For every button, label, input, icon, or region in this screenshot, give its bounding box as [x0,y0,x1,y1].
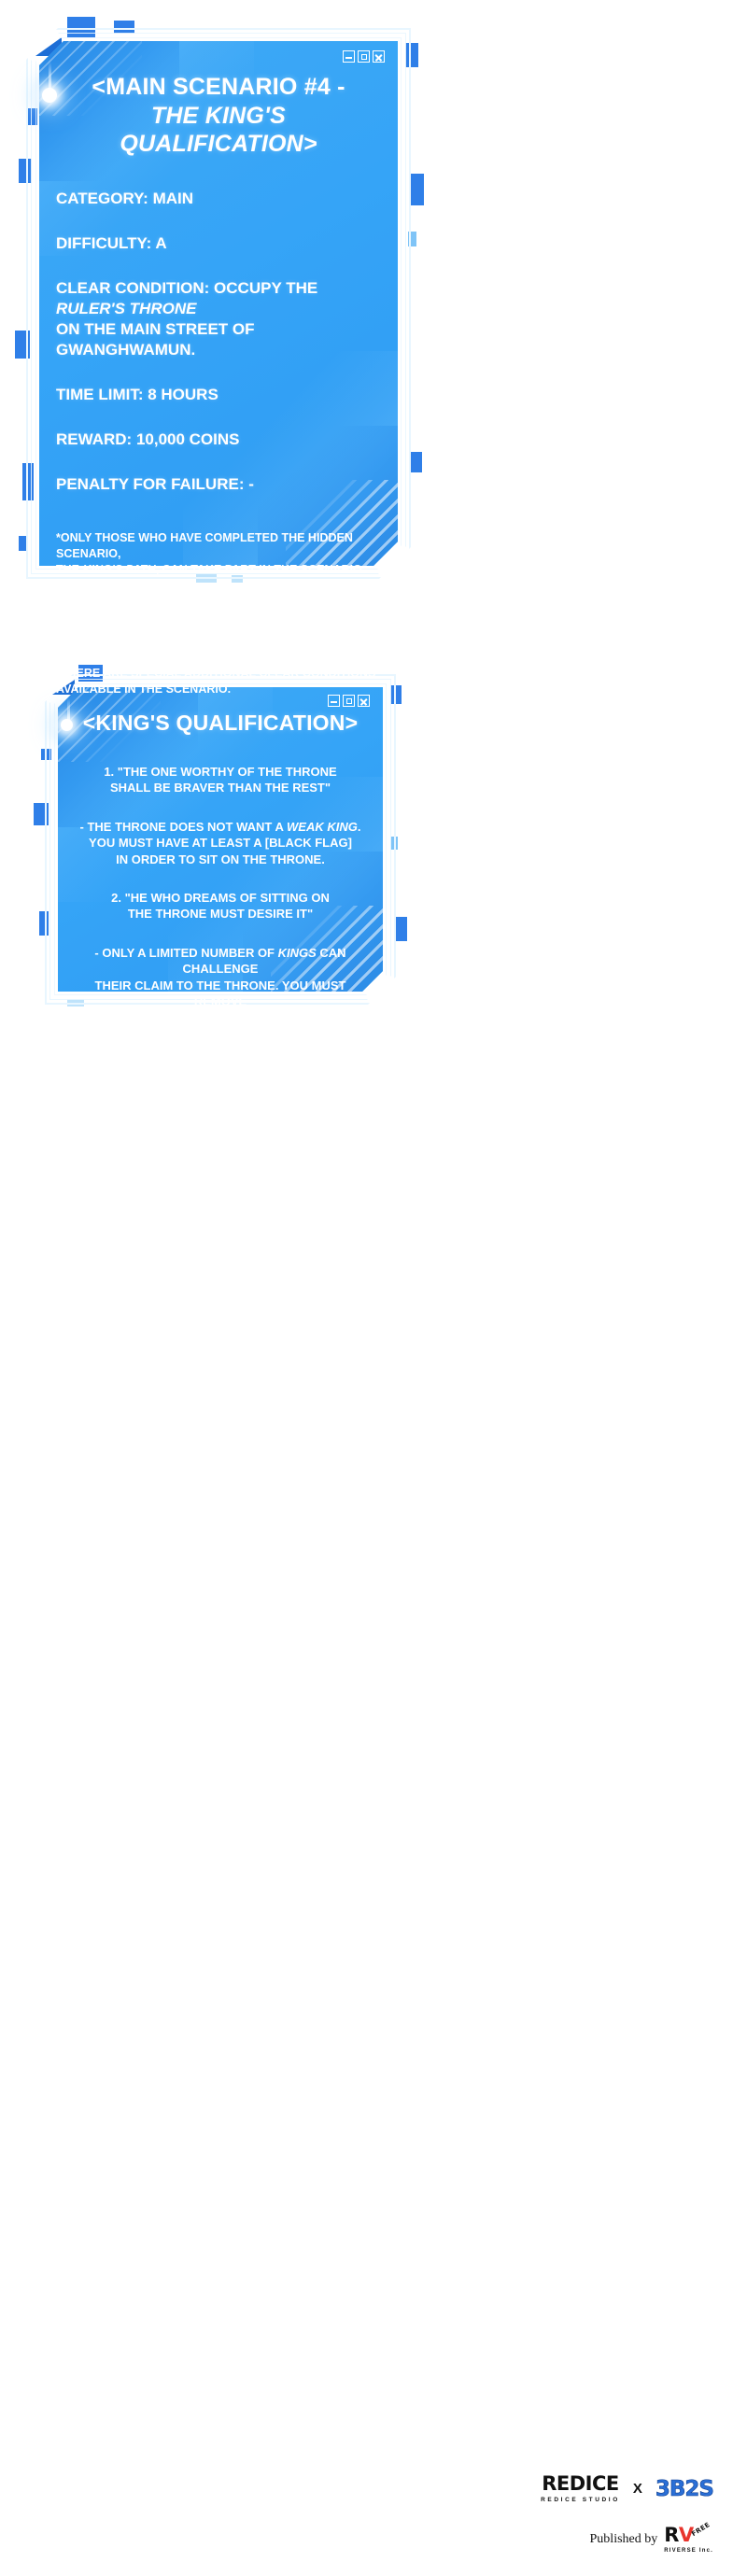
page-root: <MAIN SCENARIO #4 - THE KING'S QUALIFICA… [0,0,747,2576]
deco-block [408,232,416,246]
clear-condition-emphasis: RULER'S THRONE [56,300,196,317]
stat-category-text: CATEGORY: MAIN [56,190,193,207]
rule-1-line-1: YOU MUST HAVE AT LEAST A [BLACK FLAG] [89,836,352,850]
deco-block [390,685,402,704]
title-line-2: THE KING'S QUALIFICATION> [56,102,381,159]
stat-penalty-text: PENALTY FOR FAILURE: - [56,475,254,493]
minimize-icon[interactable] [343,50,355,63]
window-content: <MAIN SCENARIO #4 - THE KING'S QUALIFICA… [56,65,381,697]
page-title: <MAIN SCENARIO #4 - THE KING'S QUALIFICA… [56,73,381,159]
redice-tagline: REDICE STUDIO [541,2497,620,2503]
deco-block [19,159,32,183]
stat-time-limit: TIME LIMIT: 8 HOURS [56,385,381,405]
title-text: <KING'S QUALIFICATION> [83,711,358,735]
note-1-line1-pre: *THE KING WHO OCCUPIES THE [56,599,242,612]
stat-time-limit-text: TIME LIMIT: 8 HOURS [56,386,218,403]
maximize-icon[interactable] [343,695,355,707]
stat-difficulty-text: DIFFICULTY: A [56,234,167,252]
rule-3-line-2-emphasis: KINGS [158,1011,196,1025]
note-0-line1: *ONLY THOSE WHO HAVE COMPLETED THE HIDDE… [56,531,353,560]
deco-block [19,536,28,551]
page-title: <KING'S QUALIFICATION> [71,710,370,736]
published-by-label: Published by [590,2532,658,2547]
riverse-company-name: RIVERSE Inc. [664,2548,713,2554]
rule-2-line-0: 2. "HE WHO DREAMS OF SITTING ON [111,891,330,905]
note-item: *ONLY THOSE WHO HAVE COMPLETED THE HIDDE… [56,530,381,577]
deco-block [22,463,34,500]
rule-3-line-2: THE OTHER KINGS TO BE GIVEN THAT RIGHT. [85,1011,357,1025]
riverse-logo: RVFREE RIVERSE Inc. [664,2526,713,2554]
title-line-1: <MAIN SCENARIO #4 - [92,74,345,100]
collab-x: X [633,2481,642,2497]
stat-reward: REWARD: 10,000 COINS [56,429,381,450]
rule-3-line-0: - ONLY A LIMITED NUMBER OF KINGS CAN CHA… [94,946,345,976]
rule-block: 2. "HE WHO DREAMS OF SITTING ON THE THRO… [71,890,370,922]
stat-clear-condition: CLEAR CONDITION: OCCUPY THE RULER'S THRO… [56,278,381,360]
3b2s-logo: 3B2S [655,2477,713,2501]
deco-block [390,837,398,850]
glow-stem [67,698,70,721]
note-1-emphasis: RULER'S THRONE [242,599,345,612]
window-kings-qualification: <KING'S QUALIFICATION> 1. "THE ONE WORTH… [34,665,407,1012]
close-icon[interactable] [373,50,385,63]
note-item: *THERE ARE SPECIAL ADDITIONAL CLEAR COND… [56,666,381,697]
deco-block [41,749,51,760]
stats-list: CATEGORY: MAIN DIFFICULTY: A CLEAR CONDI… [56,189,381,496]
rule-1-line-0: - THE THRONE DOES NOT WANT A WEAK KING. [80,820,361,834]
close-icon[interactable] [358,695,370,707]
deco-block [39,911,49,936]
redice-wordmark: REDICE [542,2474,619,2494]
notes-list: *ONLY THOSE WHO HAVE COMPLETED THE HIDDE… [56,530,381,697]
note-0-line2-pre: THE [56,563,82,576]
rule-1-line-2: IN ORDER TO SIT ON THE THRONE. [116,852,325,866]
deco-block [28,108,37,125]
deco-block [114,21,134,34]
maximize-icon[interactable] [358,50,370,63]
rule-1-line-0-emphasis: WEAK KING [287,820,358,834]
rule-0-line-0: 1. "THE ONE WORTHY OF THE THRONE [104,765,336,779]
window-main-scenario: <MAIN SCENARIO #4 - THE KING'S QUALIFICA… [13,17,424,588]
deco-block [405,43,418,67]
deco-block [409,174,424,205]
note-2-line1: *THERE ARE SPECIAL ADDITIONAL CLEAR COND… [56,667,375,680]
glow-dot [42,88,57,103]
rule-3-line-0-emphasis: KINGS [278,946,317,960]
rule-block: - THE THRONE DOES NOT WANT A WEAK KING. … [71,819,370,867]
stat-difficulty: DIFFICULTY: A [56,233,381,254]
rules-list: 1. "THE ONE WORTHY OF THE THRONE SHALL B… [71,764,370,1026]
clear-condition-pre: CLEAR CONDITION: OCCUPY THE [56,279,317,297]
deco-block [67,17,95,37]
rule-3-line-1: THEIR CLAIM TO THE THRONE. YOU MUST REMO… [95,978,346,1008]
redice-studio-logo: REDICE REDICE STUDIO [541,2474,620,2503]
note-1-line2: ABSOLUTE COMMAND OVER THE OTHER KINGS. [56,630,336,643]
rule-block: - ONLY A LIMITED NUMBER OF KINGS CAN CHA… [71,945,370,1026]
window-controls[interactable] [328,695,370,707]
rule-block: 1. "THE ONE WORTHY OF THE THRONE SHALL B… [71,764,370,796]
window-controls[interactable] [343,50,385,63]
deco-block [34,803,49,825]
studio-logos: REDICE REDICE STUDIO X 3B2S [541,2474,713,2503]
rule-2-line-1: THE THRONE MUST DESIRE IT" [128,907,313,921]
glow-stem [49,62,51,90]
deco-block [394,917,407,941]
stat-category: CATEGORY: MAIN [56,189,381,209]
riverse-wordmark: RVFREE [664,2526,711,2545]
note-0-emphasis: KING'S PATH [82,563,155,576]
stat-reward-text: REWARD: 10,000 COINS [56,430,240,448]
note-2-line2: AVAILABLE IN THE SCENARIO. [56,683,231,696]
riverse-v: V [679,2526,694,2545]
publisher-row: Published by RVFREE RIVERSE Inc. [590,2526,713,2554]
stat-penalty: PENALTY FOR FAILURE: - [56,474,381,495]
rule-0-line-1: SHALL BE BRAVER THAN THE REST" [110,781,331,795]
riverse-r: R [664,2526,679,2545]
deco-block [411,452,422,472]
footer-credits: REDICE REDICE STUDIO X 3B2S Published by… [0,2428,747,2568]
note-0-line2-post: , CAN TAKE PART IN THE SCENARIO. [156,563,366,576]
minimize-icon[interactable] [328,695,340,707]
window-content: <KING'S QUALIFICATION> 1. "THE ONE WORTH… [71,710,370,1026]
deco-block [15,331,30,359]
note-item: *THE KING WHO OCCUPIES THE RULER'S THRON… [56,598,381,645]
clear-condition-line2: ON THE MAIN STREET OF GWANGHWAMUN. [56,320,255,359]
